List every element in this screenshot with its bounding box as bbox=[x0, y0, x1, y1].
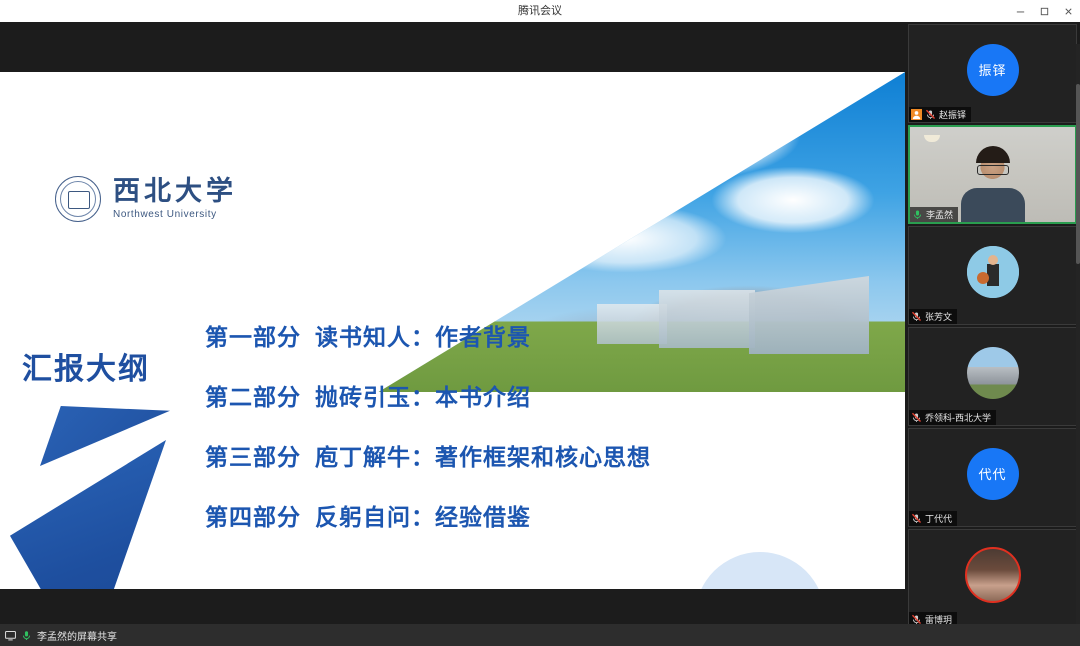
mic-on-icon bbox=[21, 630, 32, 641]
mic-muted-icon bbox=[911, 311, 922, 322]
maximize-button[interactable] bbox=[1032, 0, 1056, 22]
participant-tile[interactable]: 雷博玥 bbox=[908, 529, 1077, 624]
avatar: 代代 bbox=[967, 448, 1019, 500]
host-icon bbox=[911, 109, 922, 120]
outline-item: 第二部分 抛砖引玉：本书介绍 bbox=[205, 378, 845, 412]
participant-tile[interactable]: 张芳文 bbox=[908, 226, 1077, 325]
participant-name: 丁代代 bbox=[925, 512, 952, 525]
slide-outline-list: 第一部分 读书知人：作者背景 第二部分 抛砖引玉：本书介绍 第三部分 庖丁解牛：… bbox=[205, 318, 845, 558]
person-hair bbox=[976, 146, 1010, 163]
share-status-text: 李孟然的屏幕共享 bbox=[37, 628, 117, 643]
room-lamp bbox=[924, 135, 940, 142]
window-title: 腾讯会议 bbox=[0, 0, 1080, 22]
slide-heading: 汇报大纲 bbox=[22, 344, 150, 388]
outline-item: 第一部分 读书知人：作者背景 bbox=[205, 318, 845, 352]
mic-muted-icon bbox=[911, 513, 922, 524]
participant-tile[interactable]: 李孟然 bbox=[908, 125, 1077, 224]
participant-filmstrip[interactable]: 振铎 赵振铎 bbox=[905, 22, 1080, 624]
outline-text: 抛砖引玉：本书介绍 bbox=[315, 378, 531, 412]
filmstrip-scroll-thumb[interactable] bbox=[1076, 84, 1080, 264]
avatar bbox=[967, 347, 1019, 399]
participant-tile[interactable]: 振铎 赵振铎 bbox=[908, 24, 1077, 123]
outline-index: 第三部分 bbox=[205, 438, 315, 472]
participant-namebar: 乔领科-西北大学 bbox=[909, 410, 996, 425]
window-controls bbox=[1008, 0, 1080, 22]
participant-namebar: 李孟然 bbox=[910, 207, 958, 222]
person-torso bbox=[961, 188, 1025, 224]
mic-muted-icon bbox=[911, 412, 922, 423]
maximize-icon bbox=[1039, 6, 1050, 17]
minimize-icon bbox=[1015, 6, 1026, 17]
participant-tile[interactable]: 乔领科-西北大学 bbox=[908, 327, 1077, 426]
outline-index: 第二部分 bbox=[205, 378, 315, 412]
window-titlebar: 腾讯会议 bbox=[0, 0, 1080, 23]
outline-index: 第四部分 bbox=[205, 498, 315, 532]
participant-name: 赵振铎 bbox=[939, 108, 966, 121]
university-name-en: Northwest University bbox=[113, 209, 237, 220]
tencent-meeting-window: 腾讯会议 bbox=[0, 0, 1080, 646]
participant-namebar: 雷博玥 bbox=[909, 612, 957, 624]
participant-tile[interactable]: 代代 丁代代 bbox=[908, 428, 1077, 527]
minimize-button[interactable] bbox=[1008, 0, 1032, 22]
close-icon bbox=[1063, 6, 1074, 17]
university-seal-icon bbox=[55, 176, 101, 222]
decor-triangle-large bbox=[0, 440, 166, 589]
participant-name: 乔领科-西北大学 bbox=[925, 411, 991, 424]
participant-namebar: 张芳文 bbox=[909, 309, 957, 324]
participant-name: 张芳文 bbox=[925, 310, 952, 323]
avatar bbox=[967, 246, 1019, 298]
share-status-bar: 李孟然的屏幕共享 bbox=[0, 624, 1080, 646]
university-logo: 西北大学 Northwest University bbox=[55, 172, 285, 226]
participant-name: 雷博玥 bbox=[925, 613, 952, 624]
filmstrip-scrollbar[interactable] bbox=[1076, 44, 1080, 624]
mic-muted-icon bbox=[911, 614, 922, 624]
university-logo-text: 西北大学 Northwest University bbox=[113, 178, 237, 219]
avatar bbox=[965, 547, 1021, 603]
participant-namebar: 赵振铎 bbox=[909, 107, 971, 122]
participant-name: 李孟然 bbox=[926, 208, 953, 221]
avatar: 振铎 bbox=[967, 44, 1019, 96]
shared-screen-stage[interactable]: 西北大学 Northwest University 汇报大纲 第一部分 读书知人… bbox=[0, 22, 905, 624]
outline-index: 第一部分 bbox=[205, 318, 315, 352]
outline-text: 读书知人：作者背景 bbox=[315, 318, 531, 352]
presentation-slide: 西北大学 Northwest University 汇报大纲 第一部分 读书知人… bbox=[0, 72, 905, 589]
avatar-basketball-photo bbox=[967, 246, 1019, 298]
close-button[interactable] bbox=[1056, 0, 1080, 22]
outline-item: 第四部分 反躬自问：经验借鉴 bbox=[205, 498, 845, 532]
university-name-cn: 西北大学 bbox=[113, 178, 237, 206]
person-glasses bbox=[977, 165, 1009, 175]
screen-share-icon bbox=[5, 630, 16, 641]
participant-namebar: 丁代代 bbox=[909, 511, 957, 526]
mic-on-icon bbox=[912, 209, 923, 220]
outline-item: 第三部分 庖丁解牛：著作框架和核心思想 bbox=[205, 438, 845, 472]
mic-muted-icon bbox=[925, 109, 936, 120]
outline-text: 庖丁解牛：著作框架和核心思想 bbox=[315, 438, 651, 472]
outline-text: 反躬自问：经验借鉴 bbox=[315, 498, 531, 532]
